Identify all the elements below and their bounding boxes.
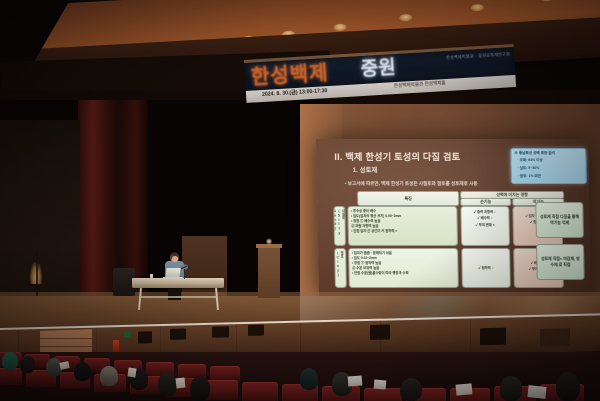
table-microphone [184, 269, 185, 279]
row-label-text: 점토 (Clay) [336, 251, 346, 285]
ceiling-spotlight [471, 4, 484, 12]
apron-vent [370, 324, 390, 339]
cell-positive-sandy: ✓ 중력 저항력 ○ ✓ 배수력 ○ ✓ 부피 변화 × [460, 206, 510, 246]
row-label-clay: 점토 (Clay) [334, 248, 347, 288]
apron-vent [480, 328, 506, 346]
right-arrow-icon [566, 221, 574, 231]
cell-positive-clay: ✓ 점착력 ○ [461, 248, 511, 288]
water-cup [150, 274, 153, 278]
handout-paper [127, 367, 136, 377]
audience-seat [242, 382, 278, 401]
attendee [556, 372, 580, 401]
apron-vent [138, 331, 152, 343]
info-box-line: · 점토: 1% 미만 [518, 174, 541, 179]
attendee [190, 376, 210, 401]
handout-paper [527, 385, 546, 399]
info-box-line: · 실트: 5~30% [518, 166, 540, 171]
banner-date: 2024. 8. 30.(금) 13:00-17:30 [262, 87, 328, 98]
attendee [2, 352, 18, 370]
audience-seat [364, 388, 402, 401]
lectern-lamp [266, 238, 272, 245]
attendee [74, 362, 91, 381]
slide-title: II. 백제 한성기 토성의 다짐 검토 [334, 149, 460, 163]
audience-seat [0, 368, 22, 385]
apron-grille [540, 328, 570, 347]
right-arrow-icon [566, 263, 574, 273]
positive-line: ✓ 부피 변화 × [464, 221, 506, 227]
apron-panel-seam [470, 318, 471, 350]
step-line [40, 346, 92, 347]
ceiling-spotlight [333, 24, 346, 32]
step-line [40, 338, 92, 339]
handout-paper [374, 379, 387, 389]
feature-line: • 단점 입자 간 공간이 커 점착력 × [351, 228, 454, 233]
apron-vent [170, 328, 186, 339]
presenter-table [132, 278, 224, 288]
ceiling-spotlight [540, 0, 553, 2]
row-label-text: 사질토 (Silty Sand) [333, 209, 346, 243]
banner-venue: 한성백제박물관 한성백제홀 [394, 80, 446, 89]
apron-vent [248, 325, 264, 336]
ceiling-spotlight [399, 14, 412, 22]
lectern [258, 246, 280, 298]
table-header-negative: 역기능 [512, 198, 564, 206]
handout-paper [348, 376, 363, 387]
attendee [158, 372, 177, 396]
negative-line: ✓ 점착력 × [516, 219, 559, 225]
slide-info-box: ※ 풍납토성 성벽 토양 분석 · 모래: 64% 이상 · 실트: 5~30%… [510, 148, 587, 184]
negative-line: ✓ 부피 변화 ○ [517, 266, 560, 272]
row-label-sandy-soil: 사질토 (Silty Sand) [333, 206, 346, 246]
exit-sign [124, 332, 131, 337]
apron-vent [212, 326, 229, 337]
laptop-base [163, 277, 183, 279]
apron-panel-seam [300, 323, 301, 355]
info-box-header: ※ 풍납토성 성벽 토양 분석 [514, 151, 555, 156]
table-header-features: 특징 [357, 191, 459, 206]
banner-title-right: 중원 [360, 52, 397, 81]
attendee [300, 368, 318, 390]
attendee [100, 366, 118, 386]
banner-organizer-logo: 한성백제박물관 · 중원문화재연구원 [446, 51, 510, 61]
handout-paper [456, 383, 473, 395]
slide-subtitle: 1. 성토재 [353, 165, 378, 174]
cell-features-clay: • 입자가 촘촘 · 분해되기 쉬움 • 입도 0.02~2mm • 장점 ① … [348, 248, 459, 288]
handout-paper [176, 378, 186, 389]
table-header-positive: 순기능 [460, 198, 511, 206]
attendee [400, 378, 422, 401]
cell-features-sandy: • 투수성 좋아 배수 • 입도(입자의 평균 크기) 0.05~2mm • 장… [347, 206, 458, 246]
feature-line: • 단점 수분(물)흡수량이 따라 팽창과 수축 [352, 270, 455, 275]
table-crossbar [139, 296, 218, 298]
attendee [500, 376, 522, 401]
cell-negative-clay: ✓ 배수력 × ✓ 부피 변화 ○ [513, 248, 564, 288]
attendee [20, 356, 35, 373]
auditorium-photo: 한성백제 중원 한성백제박물관 · 중원문화재연구원 2024. 8. 30.(… [0, 0, 600, 401]
slide-bullet: • 보고서에 따르면, 백제 한성기 토성은 사질토와 점토를 성토재로 사용 [345, 181, 478, 187]
cell-negative-sandy: ✓ 입자 간 공간 큼 ✓ 점착력 × [512, 206, 563, 246]
info-box-line: · 모래: 64% 이상 [517, 158, 542, 163]
projection-screen: II. 백제 한성기 토성의 다짐 검토 1. 성토재 • 보고서에 따르면, … [316, 139, 591, 296]
positive-line: ✓ 점착력 ○ [465, 265, 507, 271]
mic-stand [36, 252, 38, 296]
presenter-face [172, 256, 178, 262]
